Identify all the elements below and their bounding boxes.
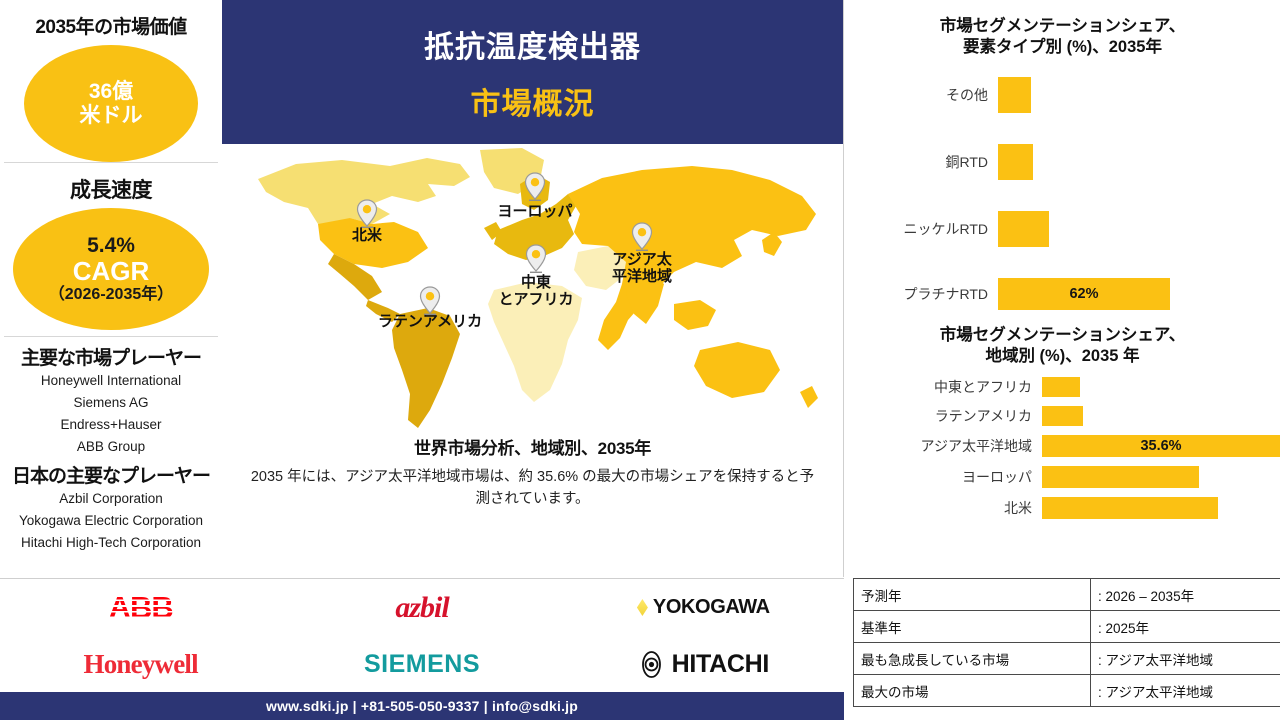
map-caption-body: 2035 年には、アジア太平洋地域市場は、約 35.6% の最大の市場シェアを保… bbox=[246, 466, 819, 511]
chart-1-label: プラチナRTD bbox=[845, 284, 998, 304]
logo-abb-text: ABB bbox=[109, 590, 173, 626]
map-label-europe: ヨーロッパ bbox=[480, 204, 590, 221]
list-item: ABB Group bbox=[0, 436, 222, 458]
kpi-market-value: 2035年の市場価値 36億 米ドル bbox=[0, 0, 222, 162]
chart-1-label: ニッケルRTD bbox=[845, 219, 998, 239]
logo-row-1: ABB azbil YOKOGAWA bbox=[0, 579, 844, 636]
page-subtitle: 市場概況 bbox=[471, 79, 595, 123]
kpi-market-value-title: 2035年の市場価値 bbox=[0, 0, 222, 39]
japan-players-heading: 日本の主要なプレーヤー bbox=[0, 461, 222, 488]
logo-honeywell-text: Honeywell bbox=[84, 649, 198, 680]
page-title: 抵抗温度検出器 bbox=[424, 22, 641, 66]
footer-bar: www.sdki.jp | +81-505-050-9337 | info@sd… bbox=[0, 692, 844, 720]
map-label-middle-east-africa: 中東 とアフリカ bbox=[476, 275, 596, 309]
map-pin-icon bbox=[356, 199, 378, 229]
chart-2-bar-row: ラテンアメリカ bbox=[845, 406, 1280, 426]
logo-yokogawa: YOKOGAWA bbox=[563, 596, 844, 619]
map-caption: 世界市場分析、地域別、2035年 2035 年には、アジア太平洋地域市場は、約 … bbox=[222, 434, 843, 511]
chart-1-label: 銅RTD bbox=[845, 152, 998, 172]
chart-1-bar-row: 銅RTD bbox=[845, 144, 1280, 180]
chart-2-bar-row: ヨーロッパ bbox=[845, 466, 1280, 488]
map-pin-icon bbox=[524, 172, 546, 202]
logo-azbil: azbil bbox=[281, 591, 562, 625]
chart-2-label: アジア太平洋地域 bbox=[845, 436, 1042, 456]
list-item: Hitachi High-Tech Corporation bbox=[0, 532, 222, 554]
chart-1-title: 市場セグメンテーションシェア、 要素タイプ別 (%)、2035年 bbox=[845, 0, 1280, 58]
map-pin-icon bbox=[631, 222, 653, 252]
logo-hitachi: HITACHI bbox=[563, 650, 844, 679]
logo-strip: ABB azbil YOKOGAWA Honeywell SIEMENS bbox=[0, 578, 844, 692]
map-pin-icon bbox=[419, 286, 441, 316]
chart-1-bar: 62% bbox=[998, 278, 1170, 310]
logo-siemens: SIEMENS bbox=[281, 650, 562, 679]
chart-2-bar-row: 中東とアフリカ bbox=[845, 377, 1280, 397]
logo-yokogawa-text: YOKOGAWA bbox=[653, 596, 770, 619]
region-nz bbox=[800, 386, 818, 408]
chart-2-label: ラテンアメリカ bbox=[845, 406, 1042, 426]
table-cell-value: : アジア太平洋地域 bbox=[1091, 675, 1280, 707]
logo-siemens-text: SIEMENS bbox=[364, 650, 480, 679]
kpi-growth-rate-period: （2026-2035年） bbox=[49, 286, 174, 304]
chart-2-label: ヨーロッパ bbox=[845, 467, 1042, 487]
region-australia bbox=[694, 342, 780, 398]
table-row: 基準年 : 2025年 bbox=[854, 611, 1280, 643]
chart-2-bar bbox=[1042, 466, 1199, 488]
table-row: 予測年 : 2026 – 2035年 bbox=[854, 579, 1280, 611]
chart-1-bar bbox=[998, 77, 1031, 113]
logo-abb: ABB bbox=[0, 590, 281, 626]
chart-component-type: 市場セグメンテーションシェア、 要素タイプ別 (%)、2035年 その他 銅RT… bbox=[845, 0, 1280, 310]
footer-contact-text: www.sdki.jp | +81-505-050-9337 | info@sd… bbox=[266, 698, 578, 714]
list-item: Honeywell International bbox=[0, 370, 222, 392]
chart-1-bar-row: その他 bbox=[845, 77, 1280, 113]
list-item: Azbil Corporation bbox=[0, 488, 222, 510]
kpi-growth-rate-bubble: 5.4% CAGR （2026-2035年） bbox=[13, 208, 209, 330]
chart-2-bar: 35.6% bbox=[1042, 435, 1280, 457]
table-cell-key: 最大の市場 bbox=[854, 675, 1091, 707]
table-cell-key: 予測年 bbox=[854, 579, 1091, 611]
chart-2-bar-row: アジア太平洋地域 35.6% bbox=[845, 435, 1280, 457]
kpi-market-value-currency: 米ドル bbox=[80, 104, 143, 128]
infographic-page: 2035年の市場価値 36億 米ドル 成長速度 5.4% CAGR （2026-… bbox=[0, 0, 1280, 720]
table-cell-value: : アジア太平洋地域 bbox=[1091, 643, 1280, 675]
japan-players-section: 日本の主要なプレーヤー Azbil Corporation Yokogawa E… bbox=[0, 461, 222, 554]
page-title-banner: 抵抗温度検出器 市場概況 bbox=[222, 0, 843, 144]
hitachi-mark-icon bbox=[638, 651, 665, 678]
logo-azbil-text: azbil bbox=[395, 591, 448, 625]
chart-1-bar bbox=[998, 144, 1033, 180]
chart-1-bar bbox=[998, 211, 1049, 247]
table-cell-value: : 2025年 bbox=[1091, 611, 1280, 643]
list-item: Endress+Hauser bbox=[0, 414, 222, 436]
map-caption-title: 世界市場分析、地域別、2035年 bbox=[246, 434, 819, 459]
table-cell-key: 最も急成長している市場 bbox=[854, 643, 1091, 675]
chart-2-title: 市場セグメンテーションシェア、 地域別 (%)、2035 年 bbox=[845, 322, 1280, 367]
key-players-section: 主要な市場プレーヤー Honeywell International Sieme… bbox=[0, 343, 222, 457]
kpi-growth-rate-pct: 5.4% bbox=[87, 234, 135, 257]
map-label-latin-america: ラテンアメリカ bbox=[360, 314, 500, 331]
kpi-growth-rate-title: 成長速度 bbox=[0, 163, 222, 204]
table-row: 最大の市場 : アジア太平洋地域 bbox=[854, 675, 1280, 707]
region-sea bbox=[674, 300, 716, 330]
chart-2-bar bbox=[1042, 406, 1083, 426]
table-cell-key: 基準年 bbox=[854, 611, 1091, 643]
sidebar-divider-2 bbox=[4, 336, 218, 337]
diamond-icon bbox=[637, 599, 648, 616]
chart-2-value: 35.6% bbox=[1140, 438, 1181, 454]
list-item: Yokogawa Electric Corporation bbox=[0, 510, 222, 532]
chart-2-bar bbox=[1042, 497, 1218, 519]
list-item: Siemens AG bbox=[0, 392, 222, 414]
chart-2-label: 中東とアフリカ bbox=[845, 377, 1042, 397]
world-map: 北米 ヨーロッパ 中東 とアフリカ bbox=[222, 144, 844, 434]
table-cell-value: : 2026 – 2035年 bbox=[1091, 579, 1280, 611]
key-players-heading: 主要な市場プレーヤー bbox=[0, 343, 222, 370]
chart-1-label: その他 bbox=[845, 85, 998, 105]
map-label-asia-pacific: アジア太 平洋地域 bbox=[584, 252, 700, 286]
summary-table: 予測年 : 2026 – 2035年 基準年 : 2025年 最も急成長している… bbox=[853, 578, 1280, 707]
kpi-market-value-amount: 36億 bbox=[89, 80, 133, 104]
chart-component-region: 市場セグメンテーションシェア、 地域別 (%)、2035 年 中東とアフリカ ラ… bbox=[845, 322, 1280, 519]
kpi-market-value-bubble: 36億 米ドル bbox=[24, 45, 198, 162]
chart-2-bar bbox=[1042, 377, 1080, 397]
kpi-growth-rate-cagr: CAGR bbox=[73, 257, 150, 286]
chart-1-bar-row: プラチナRTD 62% bbox=[845, 278, 1280, 310]
logo-hitachi-text: HITACHI bbox=[672, 650, 769, 679]
map-pin-icon bbox=[525, 244, 547, 274]
chart-2-label: 北米 bbox=[845, 498, 1042, 518]
kpi-growth-rate: 成長速度 5.4% CAGR （2026-2035年） bbox=[0, 163, 222, 330]
map-label-north-america: 北米 bbox=[322, 228, 412, 245]
chart-1-value: 62% bbox=[1069, 286, 1098, 302]
logo-row-2: Honeywell SIEMENS HITACHI bbox=[0, 636, 844, 693]
logo-honeywell: Honeywell bbox=[0, 649, 281, 680]
center-panel: 抵抗温度検出器 市場概況 bbox=[222, 0, 844, 577]
chart-2-bar-row: 北米 bbox=[845, 497, 1280, 519]
table-row: 最も急成長している市場 : アジア太平洋地域 bbox=[854, 643, 1280, 675]
left-sidebar: 2035年の市場価値 36億 米ドル 成長速度 5.4% CAGR （2026-… bbox=[0, 0, 222, 577]
chart-1-bar-row: ニッケルRTD bbox=[845, 211, 1280, 247]
